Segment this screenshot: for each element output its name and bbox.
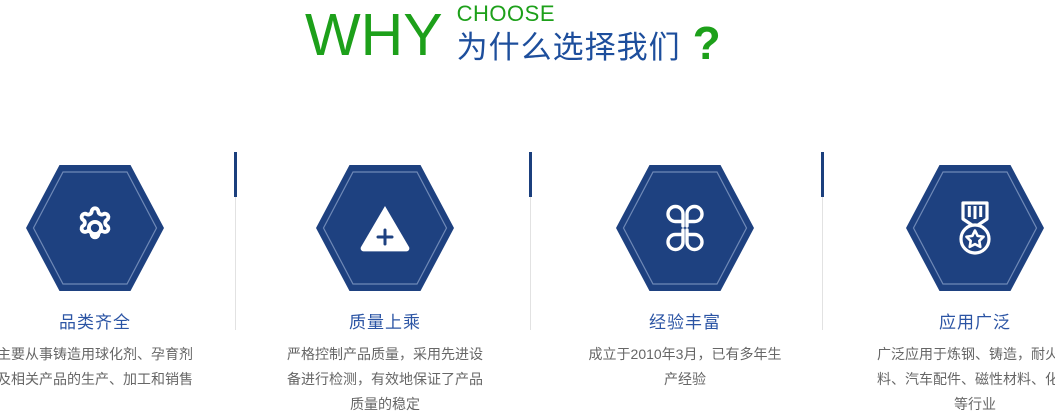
card-description: 严格控制产品质量，采用先进设备进行检测，有效地保证了产品质量的稳定 (270, 342, 500, 417)
card-description: 广泛应用于炼钢、铸造，耐火材料、汽车配件、磁性材料、化工等行业 (860, 342, 1055, 417)
card-description: 主要从事铸造用球化剂、孕育剂及相关产品的生产、加工和销售 (0, 342, 210, 392)
card-title: 质量上乘 (270, 313, 500, 333)
feature-card[interactable]: 应用广泛 广泛应用于炼钢、铸造，耐火材料、汽车配件、磁性材料、化工等行业 (860, 150, 1055, 417)
heading-choose: CHOOSE (457, 2, 681, 26)
card-description: 成立于2010年3月，已有多年生产经验 (570, 342, 800, 392)
feature-card[interactable]: 品类齐全 主要从事铸造用球化剂、孕育剂及相关产品的生产、加工和销售 (0, 150, 210, 392)
hexagon-badge (614, 163, 756, 293)
question-mark-icon: ? (693, 20, 721, 68)
feature-card[interactable]: 质量上乘 严格控制产品质量，采用先进设备进行检测，有效地保证了产品质量的稳定 (270, 150, 500, 417)
card-title: 品类齐全 (0, 313, 210, 333)
gear-icon (24, 163, 166, 293)
heading-middle-group: CHOOSE 为什么选择我们 (457, 0, 681, 68)
feature-card[interactable]: 经验丰富 成立于2010年3月，已有多年生产经验 (570, 150, 800, 392)
hexagon-badge (904, 163, 1046, 293)
medal-icon (904, 163, 1046, 293)
heading-why: WHY (305, 0, 443, 65)
four-petal-icon (614, 163, 756, 293)
feature-card-list: 品类齐全 主要从事铸造用球化剂、孕育剂及相关产品的生产、加工和销售 (0, 150, 1055, 416)
card-title: 应用广泛 (860, 313, 1055, 333)
triangle-plus-icon (314, 163, 456, 293)
heading-chinese: 为什么选择我们 (457, 28, 681, 68)
section-header: WHY CHOOSE 为什么选择我们 ? (0, 0, 1055, 95)
header-inner: WHY CHOOSE 为什么选择我们 ? (305, 0, 721, 68)
hexagon-badge (24, 163, 166, 293)
card-title: 经验丰富 (570, 313, 800, 333)
hexagon-badge (314, 163, 456, 293)
